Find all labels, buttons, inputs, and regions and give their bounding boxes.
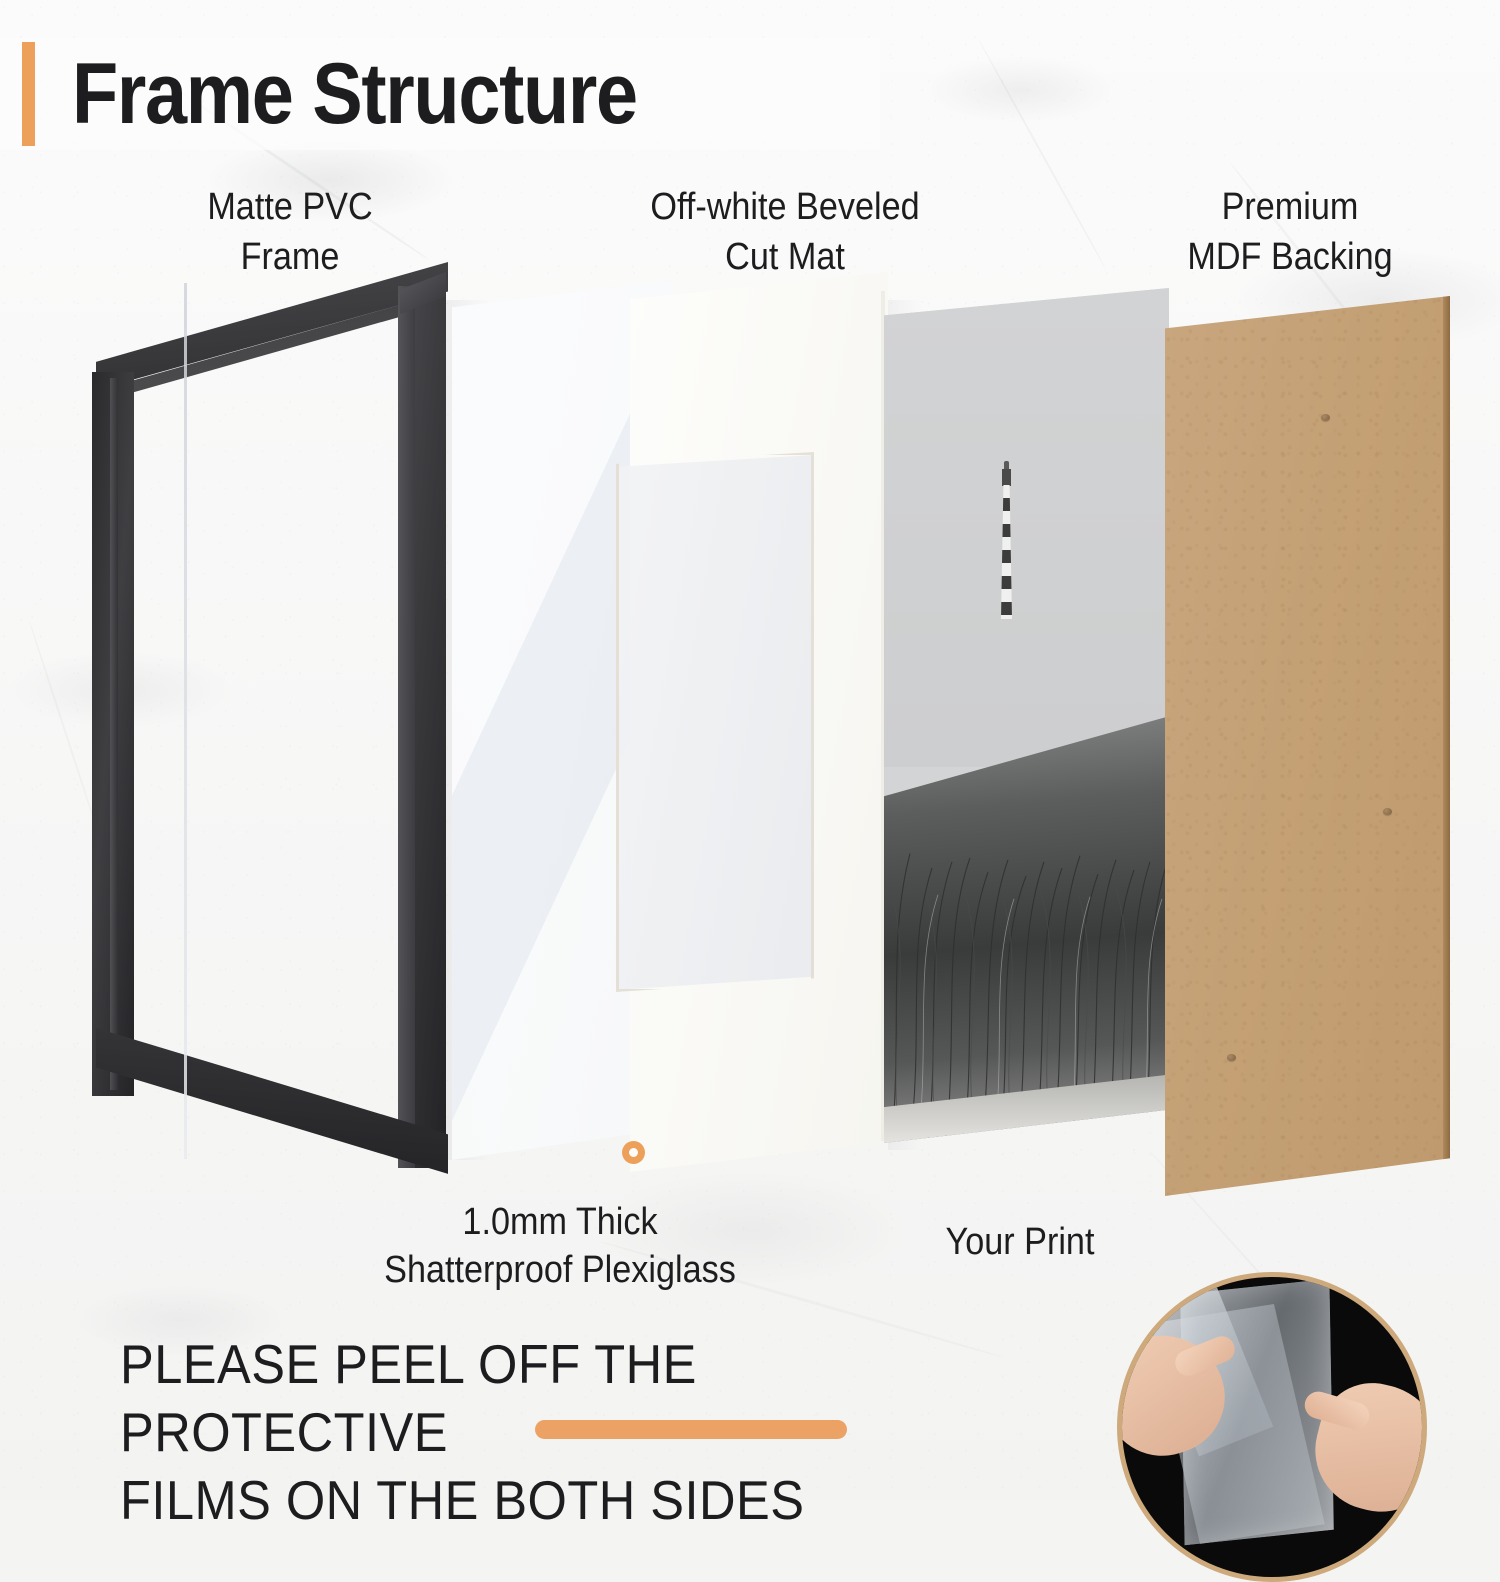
frame-right-depth [398,286,415,1168]
label-your-print: Your Print [876,1218,1164,1266]
label-plexiglass: 1.0mm Thick Shatterproof Plexiglass [299,1198,821,1294]
label-line-1: Off-white Beveled [592,182,979,232]
mdf-fastener-dot [1321,414,1330,421]
mdf-backing-layer [1165,296,1450,1196]
label-line-2: MDF Backing [1119,232,1461,282]
label-line-2: Cut Mat [592,232,979,282]
mdf-fastener-dot [1383,808,1392,815]
label-line-1: Matte PVC [137,182,443,232]
banner-line-2: FILMS ON THE BOTH SIDES [120,1466,1022,1534]
mdf-fastener-dot [1227,1054,1236,1061]
label-premium-mdf-backing: Premium MDF Backing [1119,182,1461,282]
label-off-white-beveled-cut-mat: Off-white Beveled Cut Mat [592,182,979,282]
print-layer [884,288,1169,1143]
frame-bottom-bar [96,1028,448,1180]
label-line-2: Frame [137,232,443,282]
label-matte-pvc-frame: Matte PVC Frame [137,182,443,282]
infographic-canvas: Frame Structure [0,0,1500,1500]
label-line-1: Premium [1119,182,1461,232]
peel-film-photo-inset [1117,1272,1427,1582]
label-line-1: Your Print [876,1218,1164,1266]
banner-line-1: PLEASE PEEL OFF THE PROTECTIVE [120,1330,1022,1466]
plexiglass-edge [184,283,187,1159]
leader-line-anchor-dot [622,1141,645,1164]
both-sides-highlight [535,1420,847,1439]
label-line-2: Shatterproof Plexiglass [299,1246,821,1294]
lighthouse-icon [998,459,1014,619]
mdf-edge [1443,296,1450,1196]
frame-left-lip [110,378,118,1090]
mat-bevel-edge [616,452,814,992]
label-line-1: 1.0mm Thick [299,1198,821,1246]
print-sky [884,288,1169,767]
